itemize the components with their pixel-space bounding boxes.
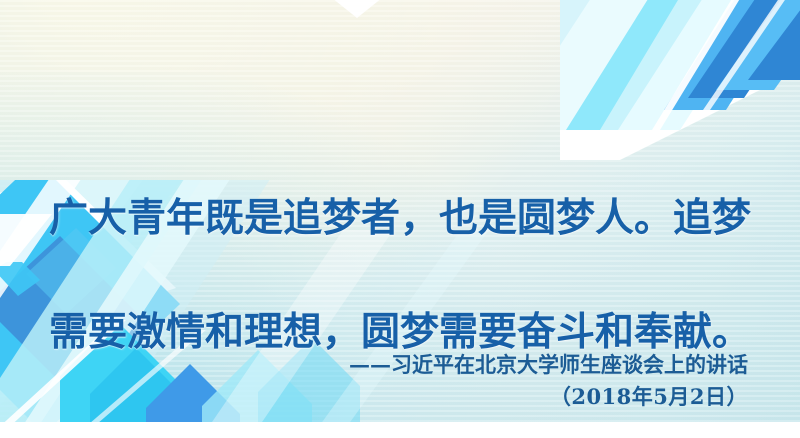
attribution-source: ——习近平在北京大学师生座谈会上的讲话 <box>349 349 748 381</box>
attribution-date: （2018年5月2日） <box>349 381 748 413</box>
footer-white-strip <box>0 422 800 438</box>
attribution-block: ——习近平在北京大学师生座谈会上的讲话 （2018年5月2日） <box>349 349 748 413</box>
quote-line-1: 广大青年既是追梦者，也是圆梦人。追梦 <box>0 190 800 247</box>
top-center-white-notch <box>332 0 382 20</box>
quote-banner: 广大青年既是追梦者，也是圆梦人。追梦 需要激情和理想，圆梦需要奋斗和奉献。 ——… <box>0 0 800 438</box>
